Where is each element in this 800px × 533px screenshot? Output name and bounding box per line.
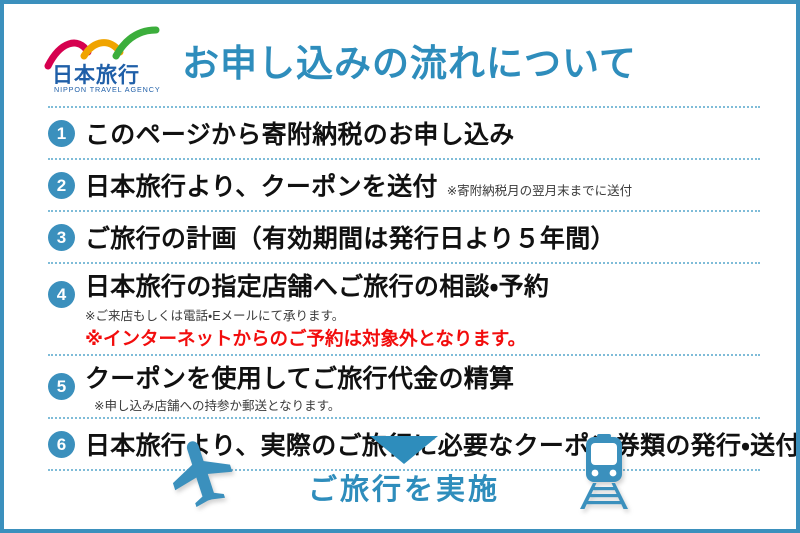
svg-text:日本旅行: 日本旅行: [52, 63, 140, 87]
step-number-5: 5: [48, 373, 75, 400]
step-title-1: このページから寄附納税のお申し込み: [85, 115, 515, 151]
train-icon-wrap: [529, 434, 679, 510]
footer-section: ご旅行を実施: [48, 428, 760, 516]
step-body-2: 日本旅行より、クーポンを送付 ※寄附納税月の翌月末までに送付: [85, 167, 760, 203]
step-number-3: 3: [48, 224, 75, 251]
page-title: お申し込みの流れについて: [182, 33, 637, 87]
step-note-4: ※ご来店もしくは電話・Eメールにて承ります。: [85, 305, 760, 324]
step-row-3: 3 ご旅行の計画（有効期間は発行日より５年間）: [48, 212, 760, 262]
footer-text: ご旅行を実施: [308, 466, 500, 508]
svg-text:NIPPON TRAVEL AGENCY: NIPPON TRAVEL AGENCY: [54, 85, 161, 94]
airplane-icon-wrap: [129, 437, 279, 507]
step-title-4: 日本旅行の指定店舗へご旅行の相談・予約: [85, 273, 549, 301]
airplane-icon: [167, 437, 241, 507]
flow-card: 日本旅行 NIPPON TRAVEL AGENCY お申し込みの流れについて 1…: [0, 0, 800, 533]
step-row-4: 4 日本旅行の指定店舗へご旅行の相談・予約 ※ご来店もしくは電話・Eメールにて承…: [48, 264, 760, 354]
step-note-2: ※寄附納税月の翌月末までに送付: [447, 180, 632, 199]
step-title-3: ご旅行の計画（有効期間は発行日より５年間）: [85, 219, 616, 255]
step-title-2: 日本旅行より、クーポンを送付: [85, 167, 438, 203]
step-note-5: ※申し込み店舗への持参か郵送となります。: [94, 395, 340, 414]
footer-center: ご旅行を実施: [279, 436, 529, 508]
step-body-3: ご旅行の計画（有効期間は発行日より５年間）: [85, 219, 760, 255]
step-row-5: 5 クーポンを使用してご旅行代金の精算 ※申し込み店舗への持参か郵送となります。: [48, 356, 760, 417]
step-title-5: クーポンを使用してご旅行代金の精算: [85, 359, 514, 395]
step-body-1: このページから寄附納税のお申し込み: [85, 115, 760, 151]
step-row-2: 2 日本旅行より、クーポンを送付 ※寄附納税月の翌月末までに送付: [48, 160, 760, 210]
train-icon: [575, 434, 633, 510]
arrow-down-icon: [370, 436, 438, 464]
step-number-4: 4: [48, 281, 75, 308]
nippon-travel-agency-logo: 日本旅行 NIPPON TRAVEL AGENCY: [44, 26, 166, 94]
card-header: 日本旅行 NIPPON TRAVEL AGENCY お申し込みの流れについて: [4, 4, 796, 100]
step-body-4: 日本旅行の指定店舗へご旅行の相談・予約 ※ご来店もしくは電話・Eメールにて承りま…: [85, 267, 760, 351]
step-row-1: 1 このページから寄附納税のお申し込み: [48, 108, 760, 158]
step-body-5: クーポンを使用してご旅行代金の精算 ※申し込み店舗への持参か郵送となります。: [85, 359, 760, 414]
steps-list: 1 このページから寄附納税のお申し込み 2 日本旅行より、クーポンを送付 ※寄附…: [48, 106, 760, 471]
step-number-1: 1: [48, 120, 75, 147]
step-number-2: 2: [48, 172, 75, 199]
step-warning-4: ※インターネットからのご予約は対象外となります。: [85, 325, 760, 351]
